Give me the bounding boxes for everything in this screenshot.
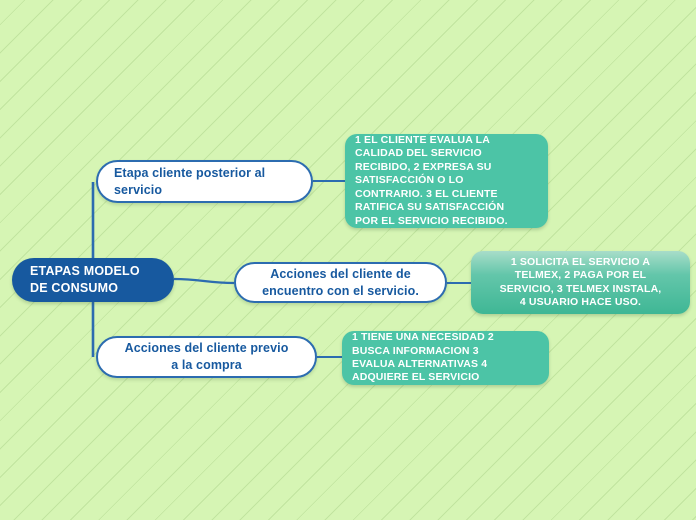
leaf-node-previo-detalle[interactable]: 1 TIENE UNA NECESIDAD 2 BUSCA INFORMACIO… xyxy=(342,331,549,385)
branch-node-etapa-cliente-posterior[interactable]: Etapa cliente posterior al servicio xyxy=(96,160,313,203)
leaf-line-4: 4 USUARIO HACE USO. xyxy=(481,296,680,309)
branch-label-line-1: Etapa cliente posterior al xyxy=(114,165,295,182)
root-label-line-1: ETAPAS MODELO xyxy=(30,263,160,280)
branch-label-line-2: encuentro con el servicio. xyxy=(252,283,429,300)
leaf-line-6: RATIFICA SU SATISFACCIÓN xyxy=(355,201,538,214)
leaf-line-3: SERVICIO, 3 TELMEX INSTALA, xyxy=(481,283,680,296)
leaf-line-4: SATISFACCIÓN O LO xyxy=(355,174,538,187)
leaf-line-7: POR EL SERVICIO RECIBIDO. xyxy=(355,215,538,228)
branch-label-line-1: Acciones del cliente de xyxy=(252,266,429,283)
leaf-line-4: ADQUIERE EL SERVICIO xyxy=(352,371,539,384)
leaf-line-3: EVALUA ALTERNATIVAS 4 xyxy=(352,358,539,371)
branch-label-line-1: Acciones del cliente previo xyxy=(114,340,299,357)
branch-node-acciones-encuentro[interactable]: Acciones del cliente de encuentro con el… xyxy=(234,262,447,303)
leaf-line-1: 1 SOLICITA EL SERVICIO A xyxy=(481,256,680,269)
root-label-line-2: DE CONSUMO xyxy=(30,280,160,297)
leaf-line-1: 1 TIENE UNA NECESIDAD 2 xyxy=(352,331,539,344)
leaf-line-1: 1 EL CLIENTE EVALUA LA xyxy=(355,134,538,147)
mind-map-canvas: ETAPAS MODELO DE CONSUMO Etapa cliente p… xyxy=(0,0,696,520)
leaf-line-3: RECIBIDO, 2 EXPRESA SU xyxy=(355,161,538,174)
leaf-line-5: CONTRARIO. 3 EL CLIENTE xyxy=(355,188,538,201)
leaf-node-posterior-detalle[interactable]: 1 EL CLIENTE EVALUA LA CALIDAD DEL SERVI… xyxy=(345,134,548,228)
leaf-line-2: CALIDAD DEL SERVICIO xyxy=(355,147,538,160)
leaf-line-2: TELMEX, 2 PAGA POR EL xyxy=(481,269,680,282)
branch-node-acciones-previo-compra[interactable]: Acciones del cliente previo a la compra xyxy=(96,336,317,378)
leaf-node-encuentro-detalle[interactable]: 1 SOLICITA EL SERVICIO A TELMEX, 2 PAGA … xyxy=(471,251,690,314)
root-node-etapas-modelo-de-consumo[interactable]: ETAPAS MODELO DE CONSUMO xyxy=(12,258,174,302)
leaf-line-2: BUSCA INFORMACION 3 xyxy=(352,345,539,358)
branch-label-line-2: a la compra xyxy=(114,357,299,374)
branch-label-line-2: servicio xyxy=(114,182,295,199)
